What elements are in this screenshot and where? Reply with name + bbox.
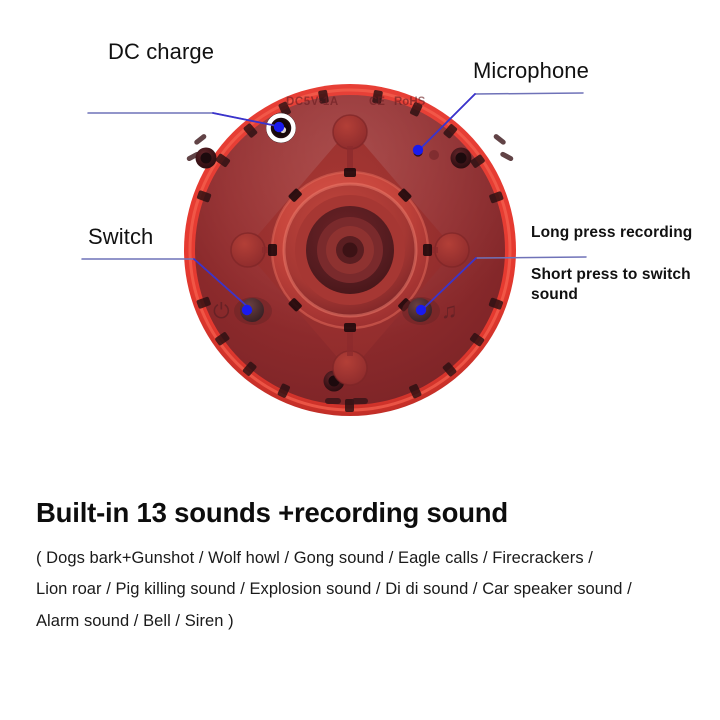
sound-list-line: Lion roar / Pig killing sound / Explosio… — [36, 574, 684, 606]
sound-info-list: ( Dogs bark+Gunshot / Wolf howl / Gong s… — [36, 543, 684, 638]
callout-label-microphone: Microphone — [473, 58, 589, 84]
screw-upper-left — [196, 148, 217, 169]
marking-ce: CE — [369, 96, 385, 108]
product-diagram: DC5V-1A CE RoHS — [0, 0, 720, 470]
leader-dot-switch — [242, 305, 252, 315]
sound-info-section: Built-in 13 sounds +recording sound ( Do… — [0, 470, 720, 638]
leader-dot-press-actions — [416, 305, 426, 315]
marking-rohs: RoHS — [394, 96, 426, 108]
sound-icon: ♫ — [441, 298, 458, 323]
power-icon: ⏻ — [213, 300, 230, 323]
callout-label-dc-charge: DC charge — [108, 39, 214, 65]
marking-power-rating: DC5V-1A — [286, 96, 339, 108]
sound-list-line: Alarm sound / Bell / Siren ) — [36, 606, 684, 638]
leader-dot-microphone — [413, 145, 423, 155]
leader-dot-dc-charge — [274, 122, 284, 132]
callout-label-long-press-recording: Long press recording — [531, 224, 692, 242]
callout-label-switch: Switch — [88, 224, 153, 250]
callout-label-short-press-switch-sound: Short press to switch sound — [531, 265, 716, 306]
sound-list-line: ( Dogs bark+Gunshot / Wolf howl / Gong s… — [36, 543, 684, 575]
sound-info-title: Built-in 13 sounds +recording sound — [36, 498, 684, 529]
screw-upper-right — [451, 148, 472, 169]
power-switch-button[interactable] — [234, 297, 272, 325]
device-body: DC5V-1A CE RoHS — [184, 84, 516, 416]
